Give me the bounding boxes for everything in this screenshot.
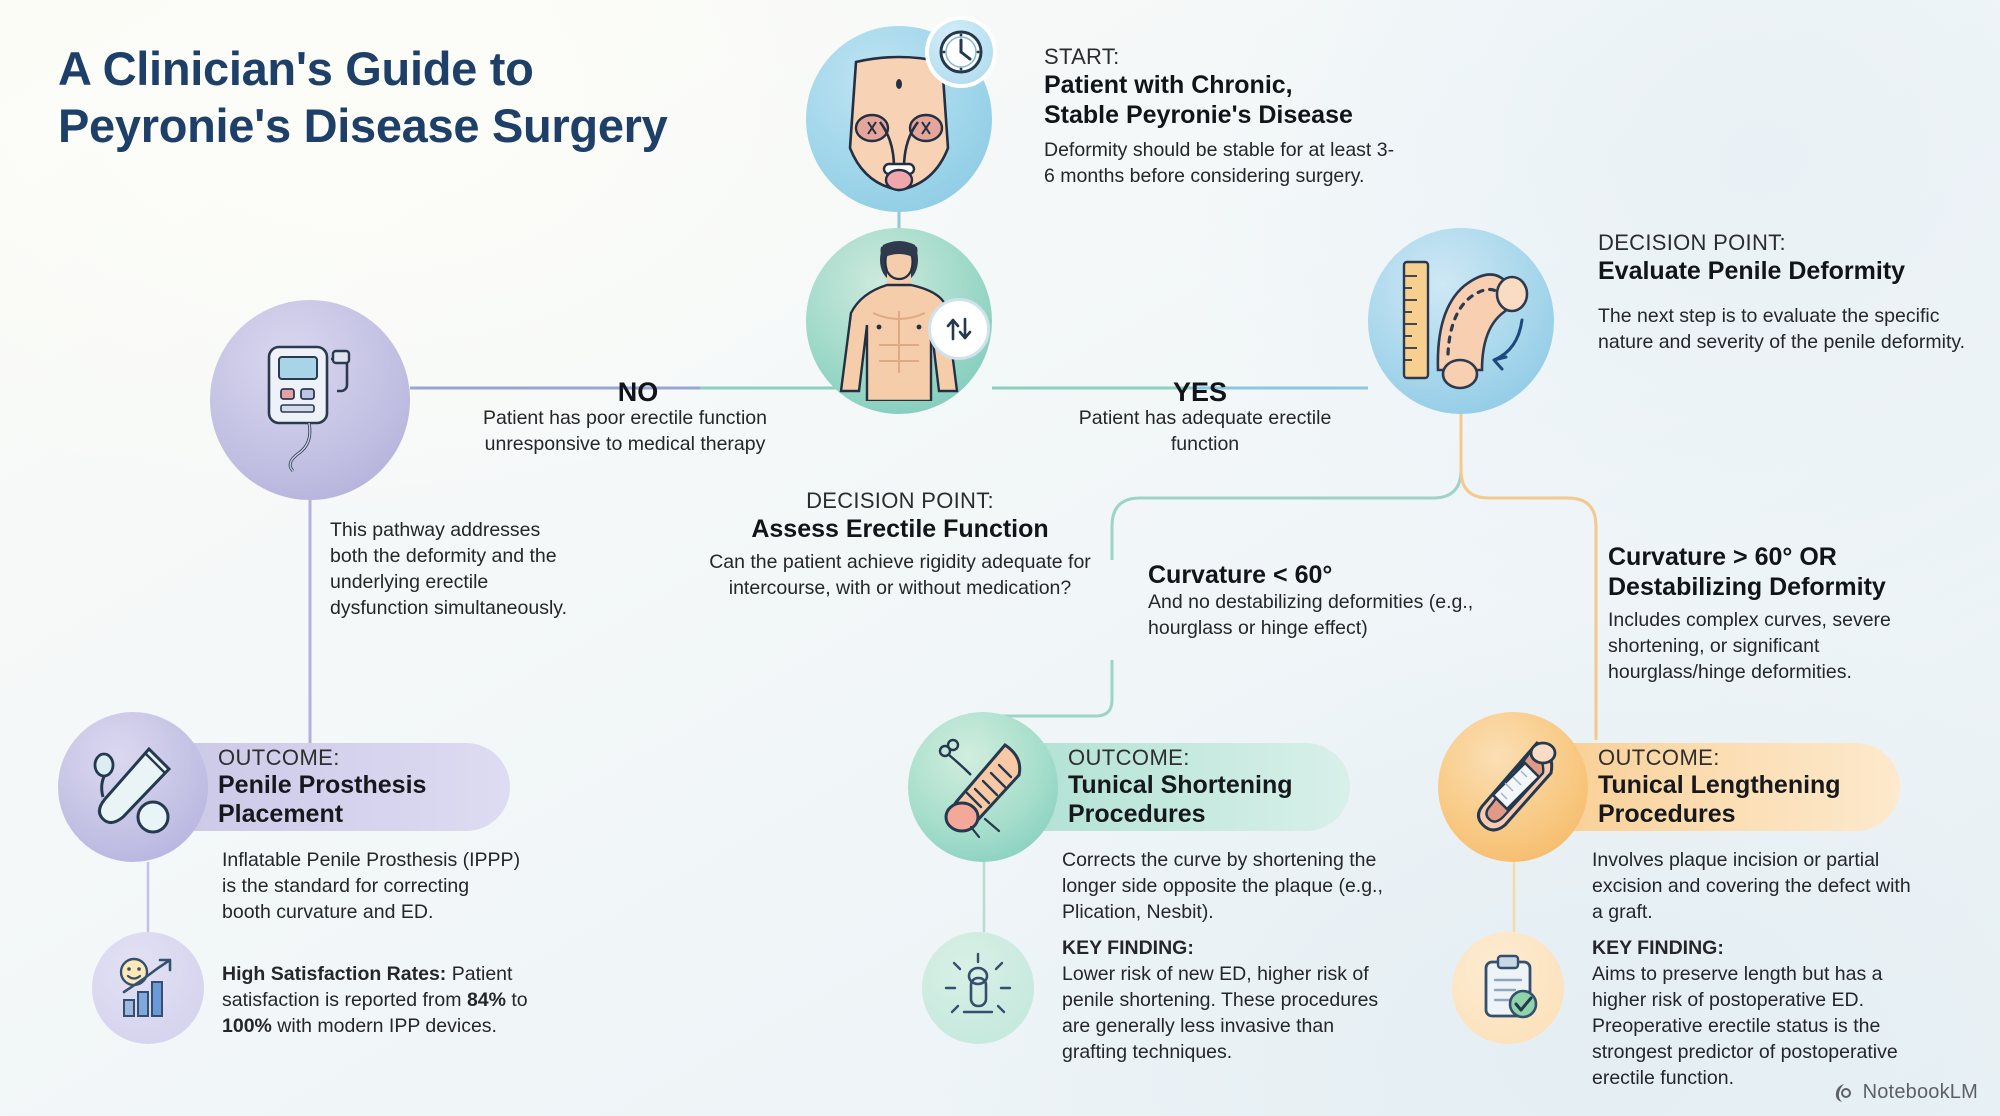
pathway-note-body: This pathway addresses both the deformit… (330, 518, 570, 622)
outcome-prosthesis-icon-node (58, 712, 208, 862)
outcome-lengthening-body-text: Involves plaque incision or partial exci… (1592, 848, 1922, 926)
outcome-lengthening-icon-node (1438, 712, 1588, 862)
ipp-pump-device-icon (235, 325, 385, 475)
branch-yes-text: Patient has adequate erectile function (1070, 406, 1340, 458)
start-title-line2: Stable Peyronie's Disease (1044, 100, 1404, 130)
outcome-shortening-body: Corrects the curve by shortening the lon… (1062, 848, 1392, 926)
outcome-shortening-sub-icon-node (922, 932, 1034, 1044)
page-title: A Clinician's Guide to Peyronie's Diseas… (58, 40, 678, 155)
outcome-shortening-key-label: KEY FINDING: (1062, 937, 1194, 959)
outcome-lengthening-key-label: KEY FINDING: (1592, 937, 1724, 959)
outcome-shortening-icon-node (908, 712, 1058, 862)
graft-patch-icon (1457, 731, 1569, 843)
outcome-lengthening-title-line2: Procedures (1598, 800, 1841, 829)
penile-implant-icon (77, 731, 189, 843)
outcome-prosthesis-key-text-c: with modern IPP devices. (272, 1015, 497, 1037)
outcome-lengthening-key: KEY FINDING: Aims to preserve length but… (1592, 936, 1942, 1092)
outcome-prosthesis-body-text: Inflatable Penile Prosthesis (IPPP) is t… (222, 848, 522, 926)
evaluate-node-icon (1368, 228, 1554, 414)
branch-no-text: Patient has poor erectile function unres… (460, 406, 790, 458)
ruler-curvature-icon (1386, 246, 1536, 396)
outcome-prosthesis-title-line1: Penile Prosthesis (218, 771, 426, 800)
up-down-arrows-icon (941, 311, 977, 347)
assess-title: Assess Erectile Function (700, 514, 1100, 544)
outcome-lengthening-kicker: OUTCOME: (1598, 745, 1841, 771)
satisfaction-chart-icon (108, 948, 188, 1028)
outcome-prosthesis-title-line2: Placement (218, 800, 426, 829)
start-text-block: START: Patient with Chronic, Stable Peyr… (1044, 44, 1404, 190)
start-title-line1: Patient with Chronic, (1044, 70, 1404, 100)
condition-low-block: Curvature < 60° And no destabilizing def… (1148, 560, 1478, 642)
clock-icon (937, 28, 985, 76)
infographic-canvas: A Clinician's Guide to Peyronie's Diseas… (0, 0, 2000, 1116)
shortened-penis-icon (938, 948, 1018, 1028)
outcome-prosthesis-key-text-b: to (506, 989, 528, 1011)
outcome-prosthesis-key-highlight-a: 84% (467, 989, 506, 1011)
outcome-shortening-key: KEY FINDING: Lower risk of new ED, highe… (1062, 936, 1402, 1066)
outcome-shortening-key-text: Lower risk of new ED, higher risk of pen… (1062, 962, 1402, 1066)
outcome-shortening-title-line1: Tunical Shortening (1068, 771, 1293, 800)
evaluate-kicker: DECISION POINT: (1598, 230, 1978, 256)
assess-text-block: DECISION POINT: Assess Erectile Function… (700, 488, 1100, 602)
start-body: Deformity should be stable for at least … (1044, 138, 1404, 190)
pathway-note: This pathway addresses both the deformit… (330, 518, 570, 622)
assess-kicker: DECISION POINT: (700, 488, 1100, 514)
condition-low-body: And no destabilizing deformities (e.g., … (1148, 590, 1478, 642)
notebooklm-logo-icon (1833, 1082, 1855, 1104)
condition-high-body: Includes complex curves, severe shorteni… (1608, 608, 1958, 686)
outcome-prosthesis-key-highlight-b: 100% (222, 1015, 272, 1037)
branch-no-body: Patient has poor erectile function unres… (460, 406, 790, 458)
outcome-prosthesis-kicker: OUTCOME: (218, 745, 426, 771)
clipboard-check-icon (1468, 948, 1548, 1028)
clock-badge (925, 16, 997, 88)
outcome-lengthening-key-text: Aims to preserve length but has a higher… (1592, 962, 1942, 1092)
pump-node-icon (210, 300, 410, 500)
outcome-shortening-body-text: Corrects the curve by shortening the lon… (1062, 848, 1392, 926)
outcome-lengthening-body: Involves plaque incision or partial exci… (1592, 848, 1922, 926)
watermark-label: NotebookLM (1863, 1081, 1978, 1104)
evaluate-body: The next step is to evaluate the specifi… (1598, 304, 1978, 356)
outcome-prosthesis-key: High Satisfaction Rates: Patient satisfa… (222, 962, 552, 1040)
arrows-badge (928, 298, 990, 360)
condition-low-title: Curvature < 60° (1148, 560, 1478, 590)
branch-no-label: NO (578, 377, 698, 408)
evaluate-title: Evaluate Penile Deformity (1598, 256, 1978, 286)
evaluate-text-block: DECISION POINT: Evaluate Penile Deformit… (1598, 230, 1978, 356)
outcome-lengthening-title-line1: Tunical Lengthening (1598, 771, 1841, 800)
outcome-shortening-kicker: OUTCOME: (1068, 745, 1293, 771)
condition-high-title-line2: Destabilizing Deformity (1608, 572, 1958, 602)
condition-high-block: Curvature > 60° OR Destabilizing Deformi… (1608, 542, 1958, 686)
outcome-prosthesis-body: Inflatable Penile Prosthesis (IPPP) is t… (222, 848, 522, 926)
outcome-lengthening-sub-icon-node (1452, 932, 1564, 1044)
start-kicker: START: (1044, 44, 1404, 70)
branch-yes-body: Patient has adequate erectile function (1070, 406, 1340, 458)
sutured-penis-icon (927, 731, 1039, 843)
watermark: NotebookLM (1833, 1081, 1978, 1104)
outcome-prosthesis-sub-icon-node (92, 932, 204, 1044)
outcome-shortening-title-line2: Procedures (1068, 800, 1293, 829)
outcome-prosthesis-key-label: High Satisfaction Rates: (222, 963, 446, 985)
branch-yes-label: YES (1140, 377, 1260, 408)
condition-high-title-line1: Curvature > 60° OR (1608, 542, 1958, 572)
assess-body: Can the patient achieve rigidity adequat… (700, 550, 1100, 602)
